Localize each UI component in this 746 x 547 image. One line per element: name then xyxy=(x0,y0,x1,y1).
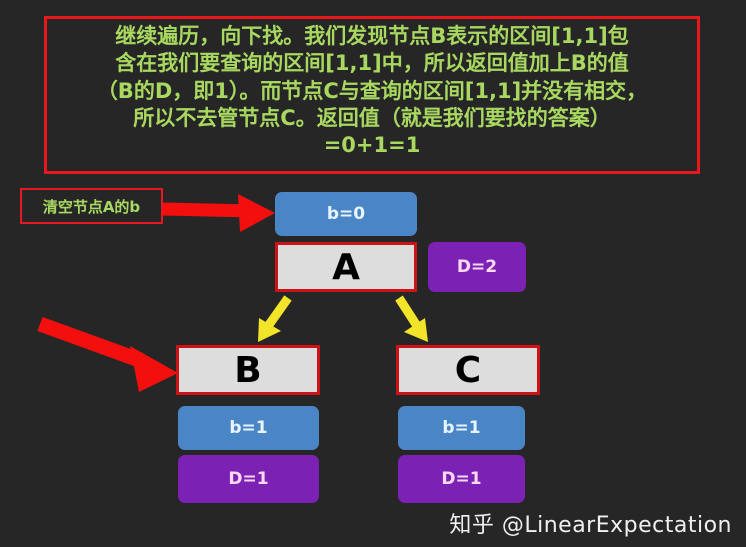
node-a-b-value-label: b=0 xyxy=(327,204,365,224)
yellow-arrow-a-to-b xyxy=(258,298,288,342)
yellow-arrow-a-to-c xyxy=(399,298,428,342)
node-c-d-value-label: D=1 xyxy=(441,469,481,489)
node-c-b-value-label: b=1 xyxy=(442,418,480,438)
explanation-box: 继续遍历，向下找。我们发现节点B表示的区间[1,1]包 含在我们要查询的区间[1… xyxy=(44,16,700,174)
red-arrow-to-node-b xyxy=(40,324,178,392)
node-a-d-value-box: D=2 xyxy=(428,242,526,292)
explanation-text: 继续遍历，向下找。我们发现节点B表示的区间[1,1]包 含在我们要查询的区间[1… xyxy=(53,23,691,159)
node-b-d-value-box: D=1 xyxy=(178,455,319,503)
node-c-b-value-box: b=1 xyxy=(398,406,525,450)
node-c-d-value-box: D=1 xyxy=(398,455,525,503)
diagram-canvas: 继续遍历，向下找。我们发现节点B表示的区间[1,1]包 含在我们要查询的区间[1… xyxy=(0,0,746,547)
node-c-box: C xyxy=(396,345,540,395)
node-c-label: C xyxy=(455,350,481,391)
annotation-label: 清空节点A的b xyxy=(43,196,140,217)
annotation-box-clear-a-b: 清空节点A的b xyxy=(20,188,163,224)
node-a-box: A xyxy=(275,242,417,292)
node-a-d-value-label: D=2 xyxy=(457,257,497,277)
node-b-box: B xyxy=(176,345,320,395)
red-arrow-to-node-a-b xyxy=(163,194,275,232)
node-a-label: A xyxy=(332,247,360,288)
node-b-d-value-label: D=1 xyxy=(228,469,268,489)
watermark: 知乎 @LinearExpectation xyxy=(449,507,732,539)
node-b-b-value-box: b=1 xyxy=(178,406,319,450)
node-a-b-value-box: b=0 xyxy=(275,192,417,236)
node-b-b-value-label: b=1 xyxy=(229,418,267,438)
node-b-label: B xyxy=(234,350,261,391)
